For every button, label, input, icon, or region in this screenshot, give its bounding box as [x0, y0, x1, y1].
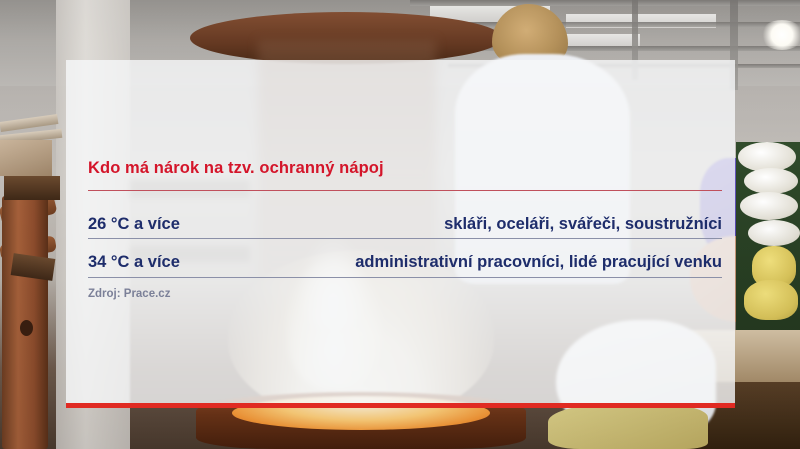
post-bolt-hole — [20, 320, 33, 336]
cardboard-box — [0, 140, 52, 176]
row-temperature-label: 34 °C a více — [88, 253, 180, 272]
glass-object — [748, 220, 800, 246]
row-temperature-label: 26 °C a více — [88, 215, 180, 234]
row-divider — [88, 277, 722, 278]
row-divider — [88, 238, 722, 239]
yellow-glass-object — [744, 280, 798, 320]
glass-object — [740, 192, 798, 220]
yellow-glove — [548, 404, 708, 449]
panel-title: Kdo má nárok na tzv. ochranný nápoj — [88, 159, 384, 178]
ceiling-lamp — [760, 20, 800, 50]
table-row: 34 °C a více administrativní pracovníci,… — [88, 244, 722, 280]
glass-object — [744, 168, 798, 194]
row-professions-value: skláři, oceláři, svářeči, soustružníci — [444, 215, 722, 234]
row-professions-value: administrativní pracovníci, lidé pracují… — [355, 253, 722, 272]
panel-accent-bar — [66, 403, 735, 408]
info-panel-content: Kdo má nárok na tzv. ochranný nápoj 26 °… — [88, 60, 722, 404]
ceiling-beam — [410, 0, 800, 6]
shelf-edge — [4, 176, 60, 200]
screenshot-stage: Kdo má nárok na tzv. ochranný nápoj 26 °… — [0, 0, 800, 449]
table-row: 26 °C a více skláři, oceláři, svářeči, s… — [88, 206, 722, 242]
source-attribution: Zdroj: Prace.cz — [88, 288, 170, 300]
title-divider — [88, 190, 722, 191]
